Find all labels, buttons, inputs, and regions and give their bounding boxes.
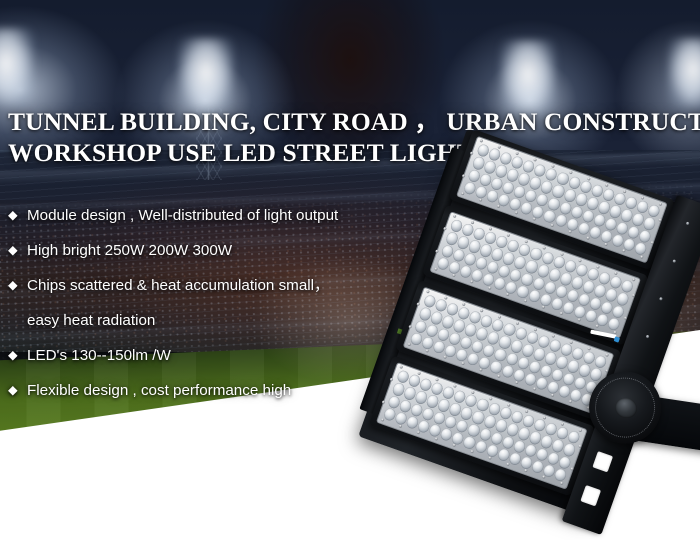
stadium-lamp-glow-4 [668, 38, 700, 108]
diamond-bullet-icon: ◆ [8, 373, 27, 408]
feature-text: Chips scattered & heat accumulation smal… [27, 268, 329, 303]
bracket-bolt [659, 297, 663, 301]
led-lens [562, 442, 577, 457]
bracket-slot [580, 485, 601, 506]
diamond-bullet-icon: ◆ [8, 233, 27, 268]
stadium-lamp-glow-3 [500, 40, 556, 116]
diamond-bullet-icon: ◆ [8, 198, 27, 233]
feature-text: LED's 130--150lm /W [27, 338, 171, 373]
product-banner: TUNNEL BUILDING, CITY ROAD ， URBAN CONST… [0, 0, 700, 540]
title-line-1: TUNNEL BUILDING, CITY ROAD ， URBAN CONST… [8, 106, 698, 137]
stadium-lamp-glow-1 [0, 28, 34, 106]
feature-item-3: ◆ Chips scattered & heat accumulation sm… [8, 268, 428, 303]
led-lens [553, 467, 568, 482]
feature-item-3-continuation: ◆ easy heat radiation [8, 303, 428, 338]
led-lens [611, 304, 626, 319]
led-lens [633, 241, 648, 256]
diamond-bullet-icon: ◆ [8, 338, 27, 373]
bracket-slot [592, 451, 613, 472]
feature-text: Flexible design , cost performance high [27, 373, 291, 408]
led-lens [638, 228, 653, 243]
feature-text: High bright 250W 200W 300W [27, 233, 232, 268]
bracket-bolt [672, 259, 676, 263]
led-lens [607, 316, 622, 331]
diamond-bullet-icon: ◆ [8, 268, 27, 303]
bracket-bolt [686, 222, 690, 226]
led-lens [642, 216, 657, 231]
led-floodlight-product-image [392, 166, 692, 526]
feature-list: ◆ Module design , Well-distributed of li… [8, 198, 428, 408]
stadium-lamp-glow-2 [178, 38, 234, 114]
feature-item-2: ◆ High bright 250W 200W 300W [8, 233, 428, 268]
feature-item-4: ◆ LED's 130--150lm /W [8, 338, 428, 373]
bracket-bolt [646, 335, 650, 339]
feature-item-1: ◆ Module design , Well-distributed of li… [8, 198, 428, 233]
page-title: TUNNEL BUILDING, CITY ROAD ， URBAN CONST… [8, 106, 698, 168]
led-lens [558, 455, 573, 470]
floodlight-body [364, 127, 693, 516]
title-line-2: WORKSHOP USE LED STREET LIGHT [8, 137, 698, 168]
feature-text: easy heat radiation [27, 303, 155, 338]
feature-text: Module design , Well-distributed of ligh… [27, 198, 338, 233]
led-lens [615, 291, 630, 306]
